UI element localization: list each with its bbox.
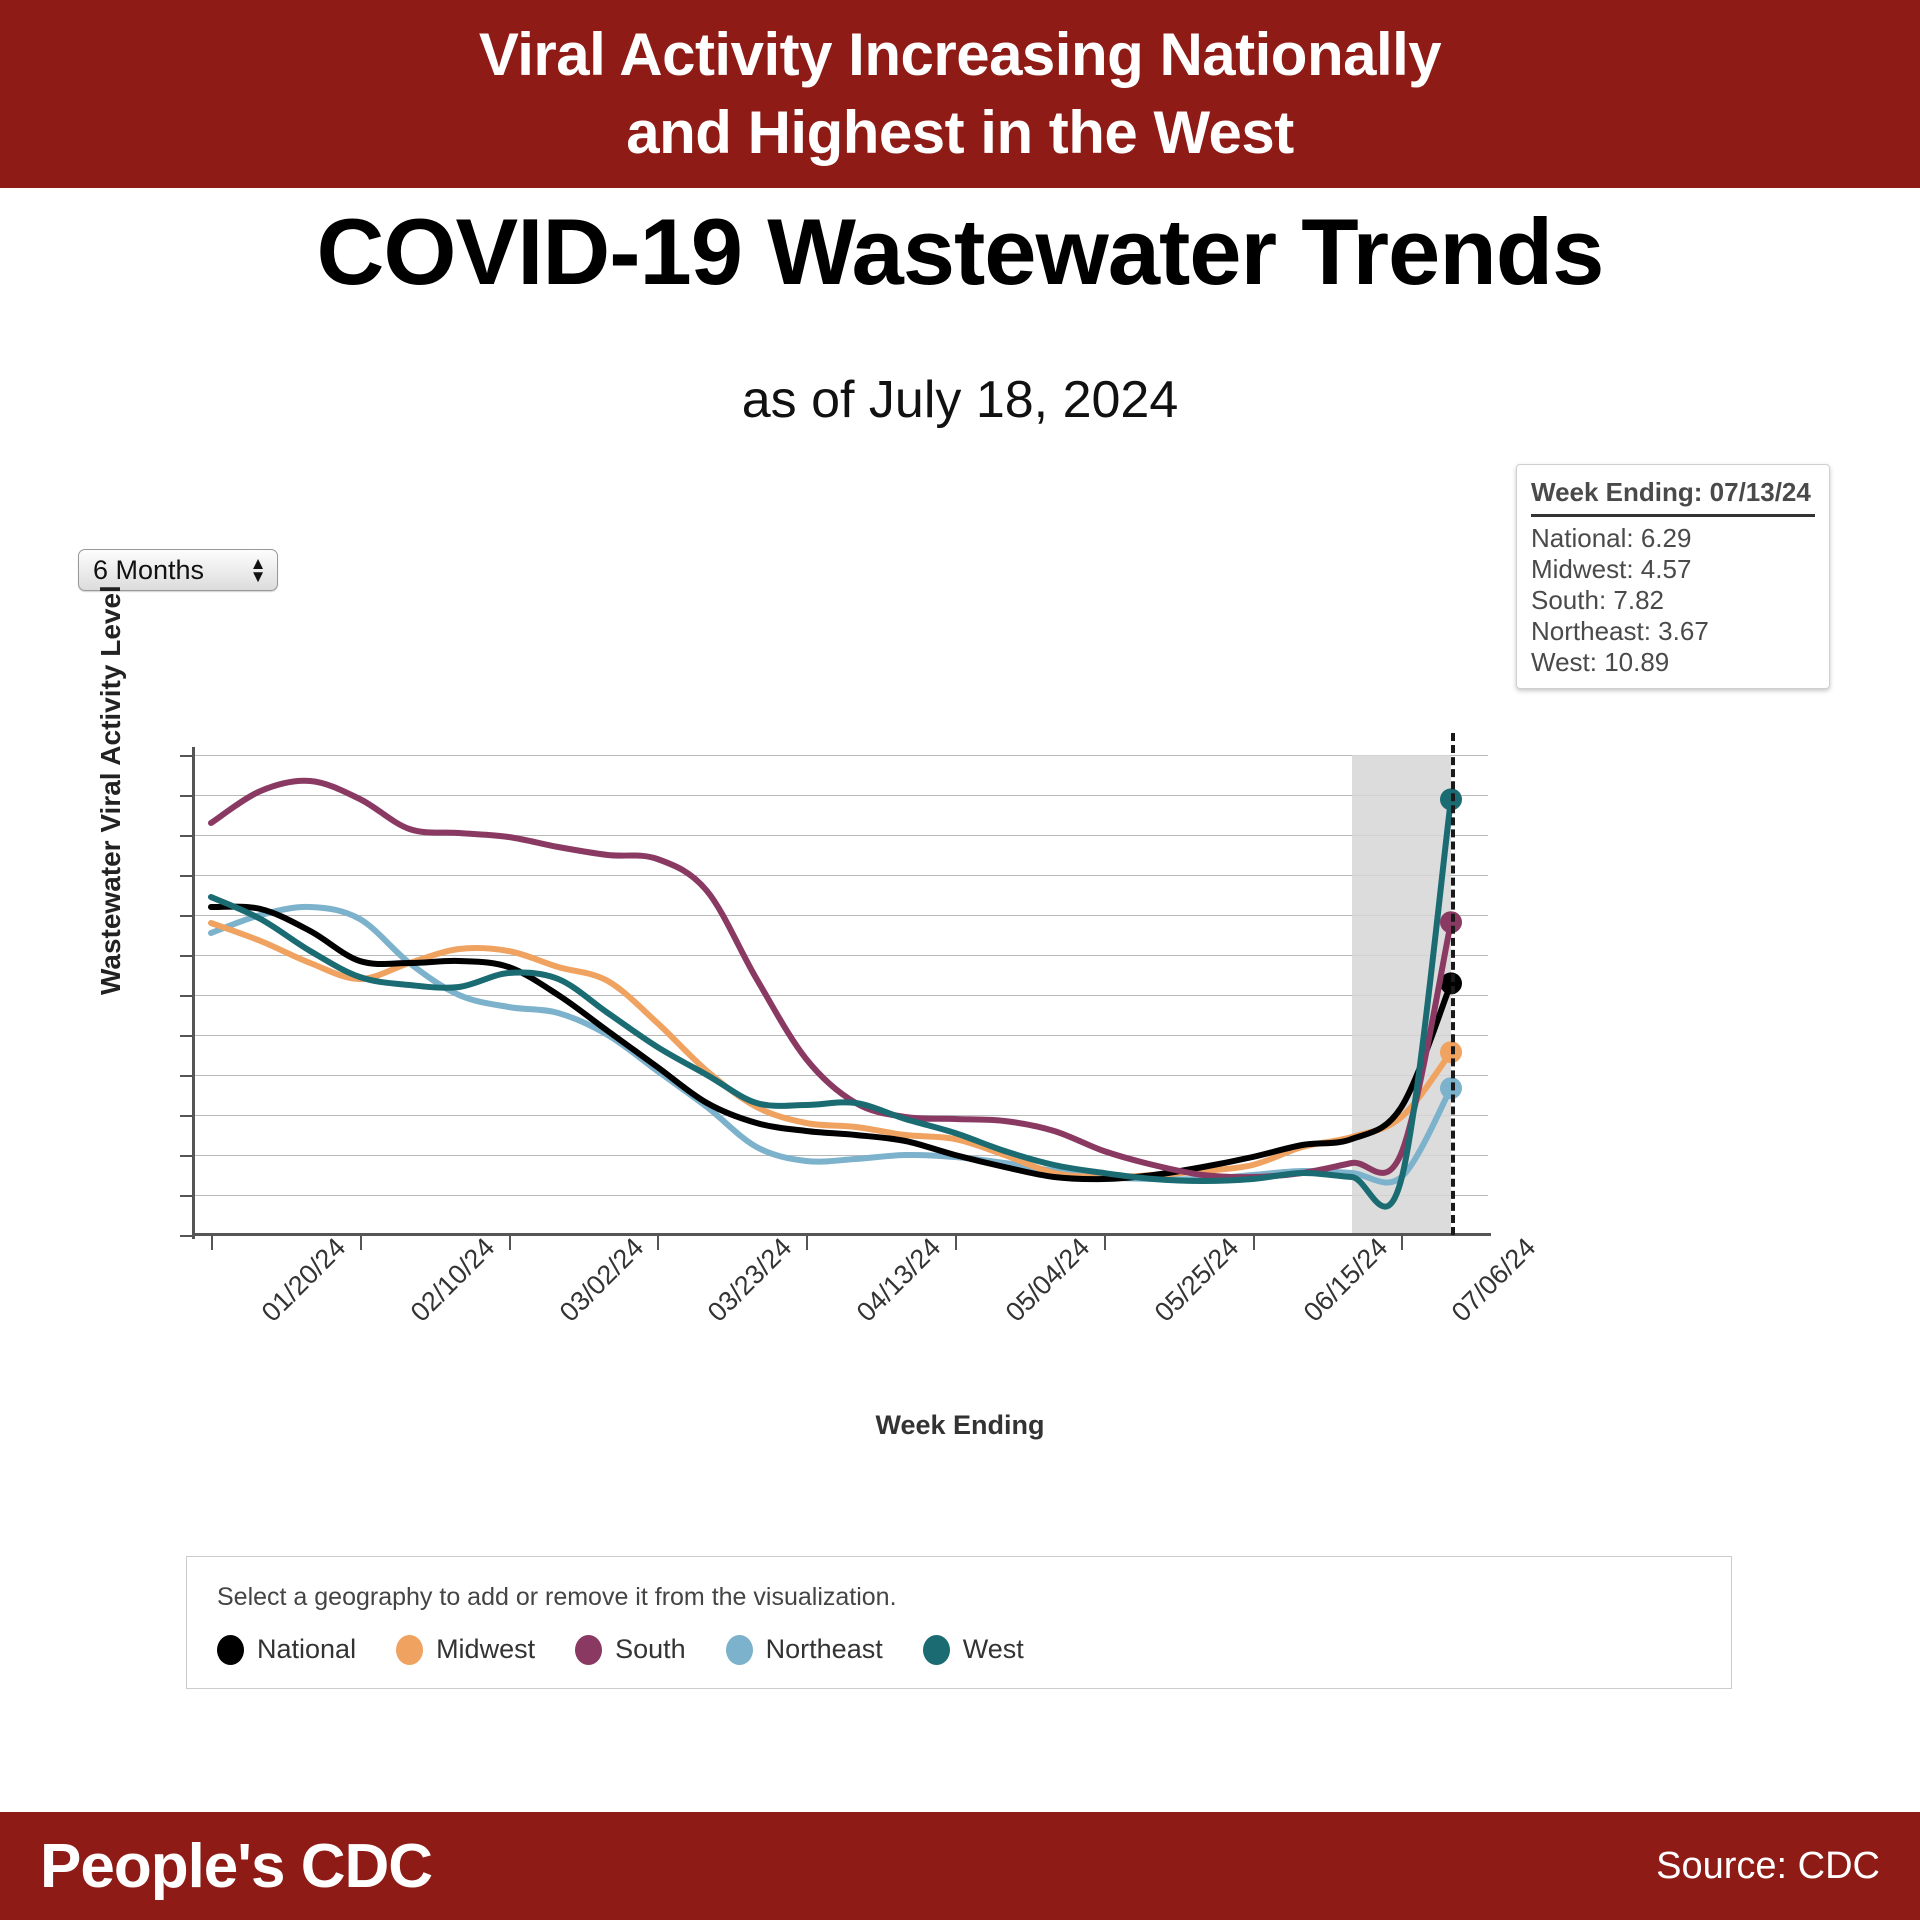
legend-item-national[interactable]: National — [217, 1634, 356, 1665]
source-credit: Source: CDC — [1656, 1845, 1880, 1888]
series-line-northeast — [211, 907, 1451, 1183]
tooltip-title: Week Ending: 07/13/24 — [1531, 477, 1815, 517]
series-lines — [193, 755, 1488, 1235]
headline-line-1: Viral Activity Increasing Nationally — [479, 16, 1441, 94]
x-tick-mark — [1401, 1235, 1403, 1250]
legend-item-northeast[interactable]: Northeast — [726, 1634, 883, 1665]
tooltip-row: West: 10.89 — [1531, 647, 1815, 678]
tooltip-row: Midwest: 4.57 — [1531, 554, 1815, 585]
x-tick-label: 05/25/24 — [1149, 1232, 1245, 1328]
y-tick-mark — [180, 1235, 193, 1237]
legend-color-dot-icon — [575, 1635, 602, 1665]
x-tick-label: 05/04/24 — [1000, 1232, 1096, 1328]
x-tick-mark — [211, 1235, 213, 1250]
legend-help-text: Select a geography to add or remove it f… — [217, 1583, 1701, 1612]
tooltip-row: South: 7.82 — [1531, 585, 1815, 616]
legend-item-west[interactable]: West — [923, 1634, 1024, 1665]
y-axis-title: Wastewater Viral Activity Level — [95, 585, 127, 995]
x-tick-mark — [1104, 1235, 1106, 1250]
brand-logo: People's CDC — [40, 1831, 432, 1902]
chevron-updown-icon: ▲▼ — [247, 557, 269, 583]
x-tick-mark — [657, 1235, 659, 1250]
legend-color-dot-icon — [923, 1635, 950, 1665]
y-tick-mark — [180, 955, 193, 957]
legend-item-south[interactable]: South — [575, 1634, 686, 1665]
current-week-marker-line — [1451, 733, 1455, 1235]
headline-line-2: and Highest in the West — [626, 94, 1293, 172]
y-tick-mark — [180, 1075, 193, 1077]
chart-tooltip: Week Ending: 07/13/24 National: 6.29Midw… — [1516, 464, 1830, 689]
y-tick-mark — [180, 755, 193, 757]
infographic-page: Viral Activity Increasing Nationally and… — [0, 0, 1920, 1920]
x-tick-label: 03/23/24 — [702, 1232, 798, 1328]
y-tick-mark — [180, 1115, 193, 1117]
legend-color-dot-icon — [217, 1635, 244, 1665]
legend-color-dot-icon — [726, 1635, 753, 1665]
y-tick-mark — [180, 795, 193, 797]
tooltip-row: Northeast: 3.67 — [1531, 616, 1815, 647]
legend-item-list: NationalMidwestSouthNortheastWest — [217, 1634, 1701, 1665]
x-tick-mark — [509, 1235, 511, 1250]
y-tick-mark — [180, 1195, 193, 1197]
x-tick-label: 07/06/24 — [1446, 1232, 1542, 1328]
legend-item-label: Midwest — [436, 1634, 535, 1665]
y-tick-mark — [180, 875, 193, 877]
x-tick-mark — [806, 1235, 808, 1250]
x-axis-title: Week Ending — [0, 1410, 1920, 1441]
legend-item-midwest[interactable]: Midwest — [396, 1634, 535, 1665]
x-tick-mark — [360, 1235, 362, 1250]
legend-item-label: Northeast — [766, 1634, 883, 1665]
series-line-south — [211, 781, 1451, 1177]
footer-bar: People's CDC Source: CDC — [0, 1812, 1920, 1920]
series-line-west — [211, 799, 1451, 1206]
chart-container: 6 Months ▲▼ Week Ending: 07/13/24 Nation… — [0, 560, 1920, 1460]
x-tick-label: 06/15/24 — [1297, 1232, 1393, 1328]
page-subtitle: as of July 18, 2024 — [0, 370, 1920, 430]
legend-color-dot-icon — [396, 1635, 423, 1665]
tooltip-row: National: 6.29 — [1531, 523, 1815, 554]
x-tick-mark — [1253, 1235, 1255, 1250]
legend-item-label: West — [963, 1634, 1024, 1665]
x-tick-label: 02/10/24 — [405, 1232, 501, 1328]
legend-panel: Select a geography to add or remove it f… — [186, 1556, 1732, 1689]
x-tick-label: 03/02/24 — [553, 1232, 649, 1328]
series-line-national — [211, 907, 1451, 1179]
y-tick-mark — [180, 1035, 193, 1037]
legend-item-label: South — [615, 1634, 686, 1665]
page-title: COVID-19 Wastewater Trends — [0, 198, 1920, 306]
y-tick-mark — [180, 915, 193, 917]
legend-item-label: National — [257, 1634, 356, 1665]
headline-banner: Viral Activity Increasing Nationally and… — [0, 0, 1920, 188]
time-range-value: 6 Months — [93, 555, 247, 586]
plot-area: 0123456789101112 01/20/2402/10/2403/02/2… — [193, 755, 1488, 1235]
x-tick-label: 01/20/24 — [256, 1232, 352, 1328]
y-tick-mark — [180, 1155, 193, 1157]
y-tick-mark — [180, 835, 193, 837]
x-tick-label: 04/13/24 — [851, 1232, 947, 1328]
y-tick-mark — [180, 995, 193, 997]
x-tick-mark — [955, 1235, 957, 1250]
tooltip-value-list: National: 6.29Midwest: 4.57South: 7.82No… — [1531, 517, 1815, 678]
